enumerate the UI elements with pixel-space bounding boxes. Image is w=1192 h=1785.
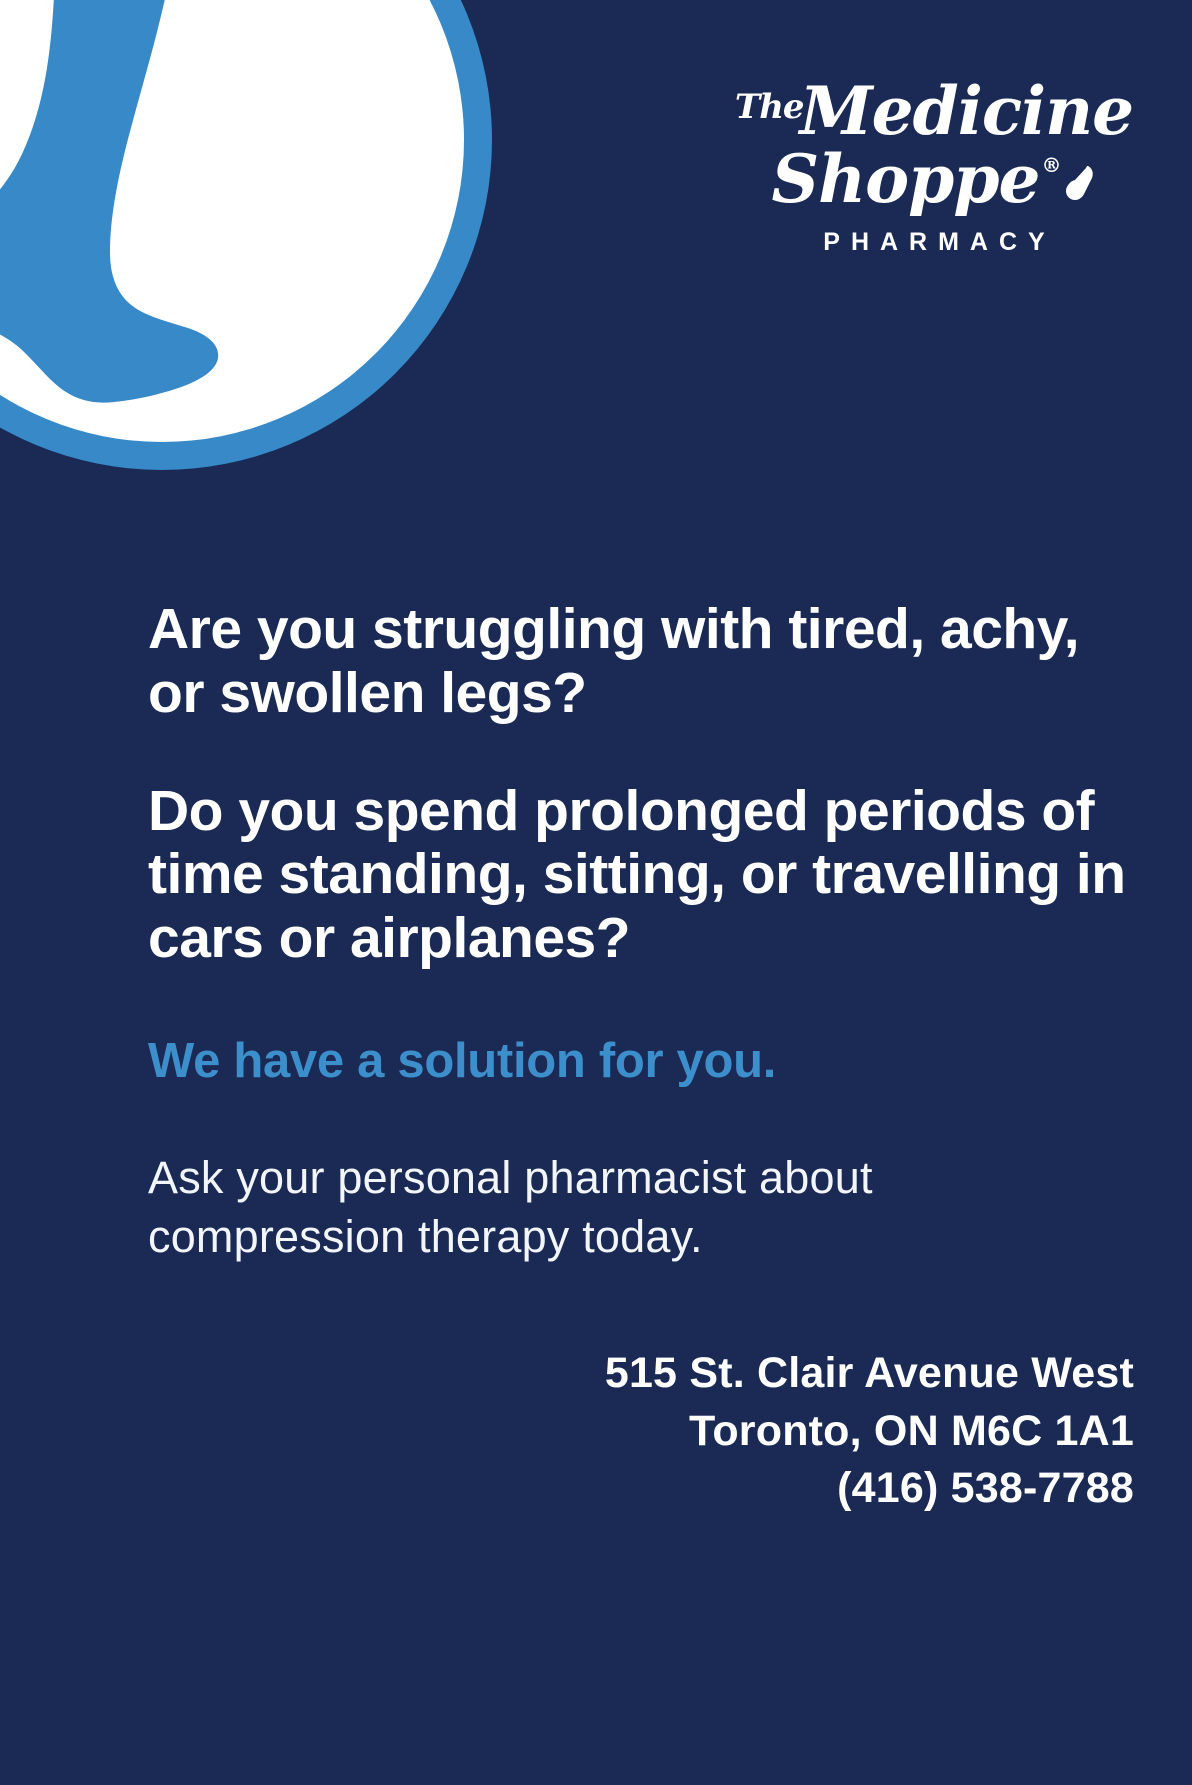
address-phone[interactable]: (416) 538-7788 [605, 1460, 1134, 1517]
logo-medicine-text: Medicine [800, 72, 1134, 150]
body-copy-text: Ask your personal pharmacist about compr… [148, 1149, 1134, 1266]
leg-and-foot-icon [0, 0, 492, 470]
mortar-and-pestle-icon [1062, 152, 1096, 196]
headline-paragraph-2: Do you spend prolonged periods of time s… [148, 780, 1134, 971]
logo-pharmacy-text: PHARMACY [734, 230, 1134, 255]
headline-paragraph-1: Are you struggling with tired, achy, or … [148, 598, 1134, 726]
copy-block: Are you struggling with tired, achy, or … [148, 598, 1134, 1266]
address-block: 515 St. Clair Avenue West Toronto, ON M6… [605, 1345, 1134, 1517]
logo-the-text: The [735, 87, 804, 127]
address-street: 515 St. Clair Avenue West [605, 1345, 1134, 1402]
address-city-province-postal: Toronto, ON M6C 1A1 [605, 1403, 1134, 1460]
compression-therapy-poster: TheMedicine Shoppe® PHARMACY Are you str… [0, 0, 1192, 1785]
accent-tagline: We have a solution for you. [148, 1033, 1134, 1089]
medicine-shoppe-logo: TheMedicine Shoppe® PHARMACY [734, 78, 1134, 255]
logo-wordmark-line-2: Shoppe® [734, 146, 1134, 212]
logo-shoppe-text: Shoppe [772, 140, 1040, 218]
logo-wordmark-line-1: TheMedicine [734, 78, 1134, 144]
leg-badge-graphic [0, 0, 492, 470]
registered-trademark-icon: ® [1041, 153, 1060, 177]
